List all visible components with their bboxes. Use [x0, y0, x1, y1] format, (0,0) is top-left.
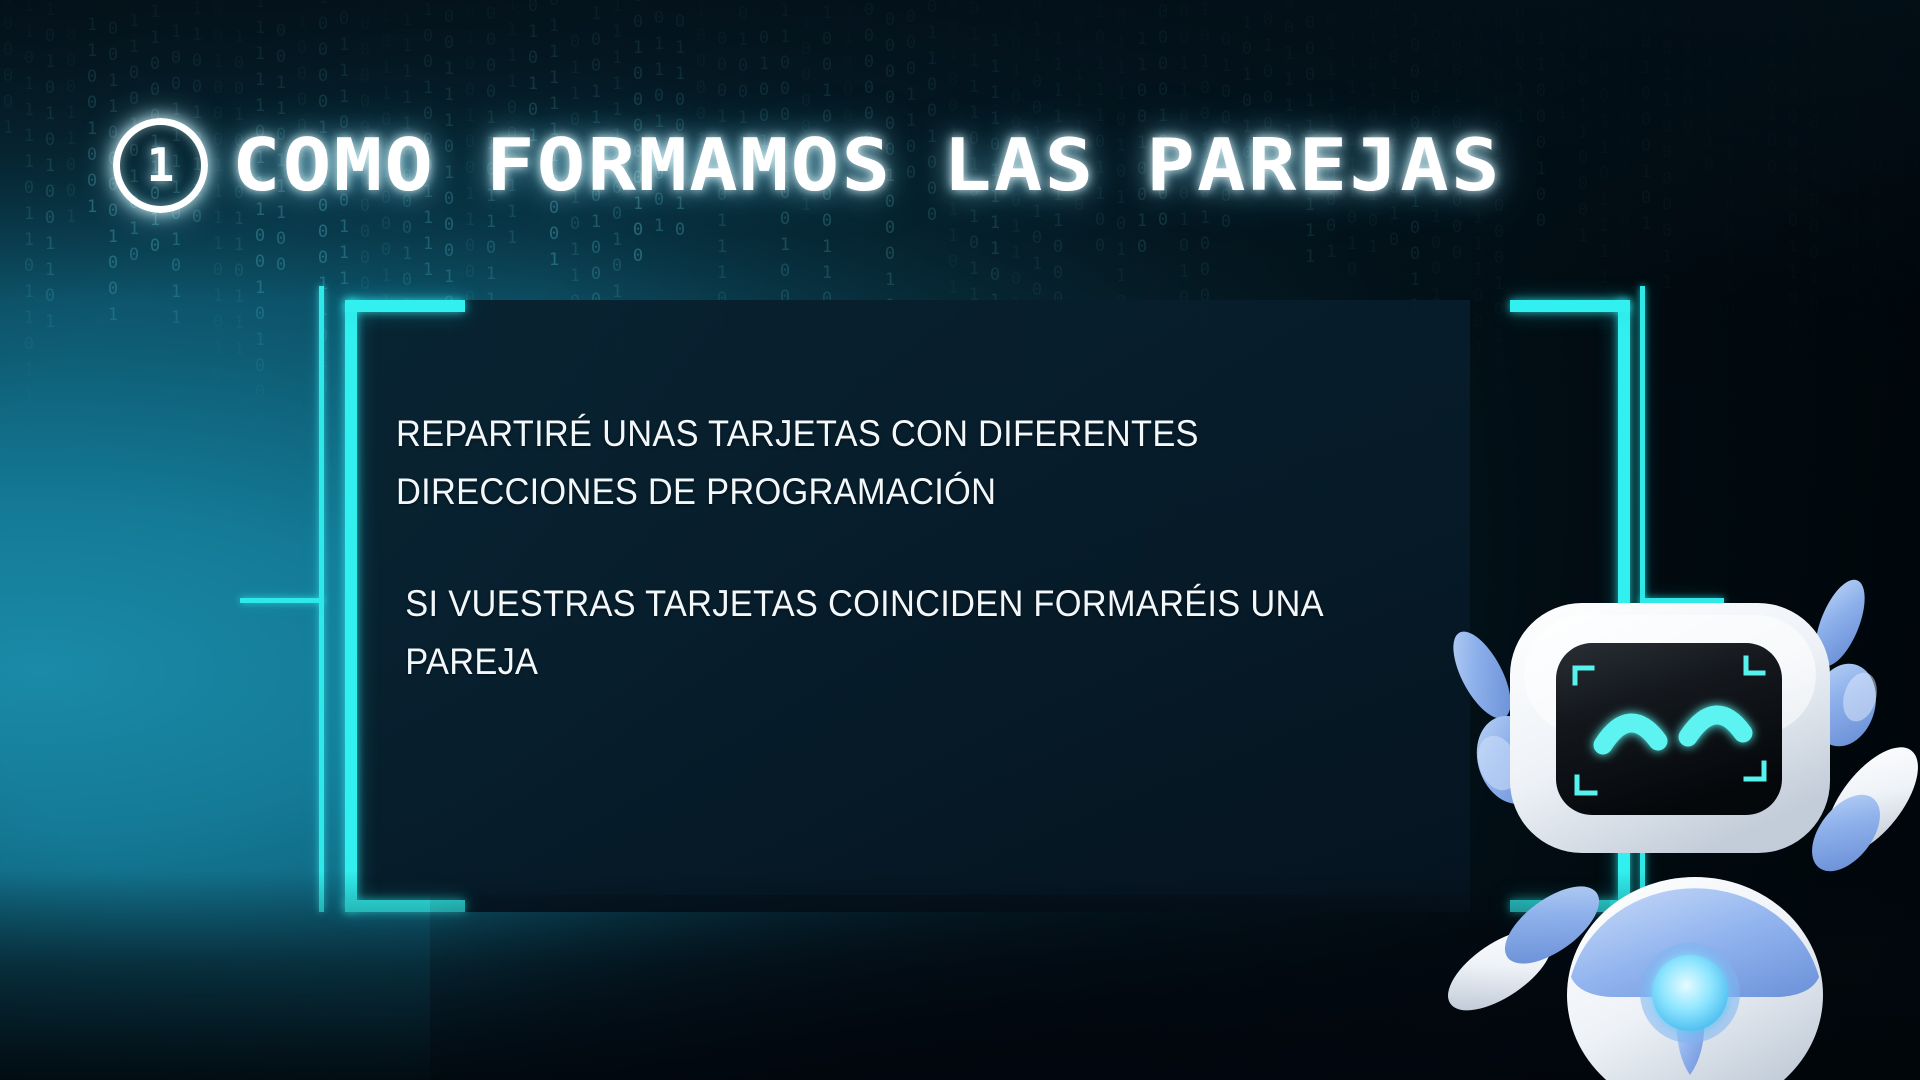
body-paragraph-1: REPARTIRÉ UNAS TARJETAS CON DIFERENTES D…	[396, 405, 1428, 521]
robot-mascot	[1440, 565, 1920, 1080]
slide-canvas: 0 0 0 0 0 1 1 1 0 1 1 1 1 0 1 1 0 1 1 0 …	[0, 0, 1920, 1080]
slide-header: 1 COMO FORMAMOS LAS PAREJAS	[0, 0, 1920, 230]
body-paragraph-2: SI VUESTRAS TARJETAS COINCIDEN FORMARÉIS…	[396, 575, 1428, 691]
robot-torso	[1567, 877, 1823, 1080]
robot-chest-light	[1652, 955, 1728, 1031]
bottom-core-shade	[430, 895, 1610, 1080]
robot-head	[1510, 603, 1830, 853]
slide-body: REPARTIRÉ UNAS TARJETAS CON DIFERENTES D…	[396, 405, 1428, 691]
step-number-badge: 1	[113, 118, 208, 213]
step-number-label: 1	[147, 142, 175, 188]
page-title: COMO FORMAMOS LAS PAREJAS	[232, 118, 1502, 213]
